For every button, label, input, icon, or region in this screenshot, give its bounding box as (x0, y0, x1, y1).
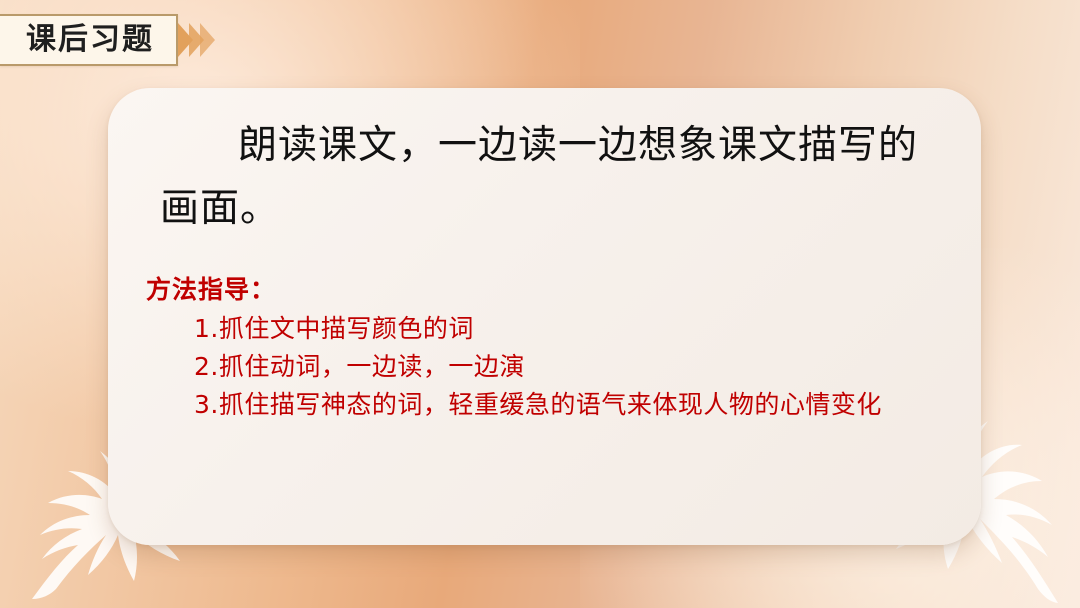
list-item: 1.抓住文中描写颜色的词 (146, 310, 965, 348)
chevron-right-icon (200, 23, 215, 57)
question-text: 朗读课文，一边读一边想象课文描写的画面。 (160, 114, 939, 240)
slide-root: 课后习题 朗读课文，一边读一边想象课文描写的画面。 方法指导： 1.抓住文中描写… (0, 0, 1080, 608)
page-title: 课后习题 (26, 25, 154, 55)
slide-title-box: 课后习题 (0, 14, 178, 66)
method-guide-label: 方法指导： (146, 270, 276, 306)
content-card-inner: 朗读课文，一边读一边想象课文描写的画面。 方法指导： 1.抓住文中描写颜色的词 … (108, 88, 981, 545)
list-item: 2.抓住动词，一边读，一边演 (146, 348, 965, 386)
content-card: 朗读课文，一边读一边想象课文描写的画面。 方法指导： 1.抓住文中描写颜色的词 … (108, 88, 981, 545)
list-item: 3.抓住描写神态的词，轻重缓急的语气来体现人物的心情变化 (146, 386, 965, 424)
method-guide-list: 1.抓住文中描写颜色的词 2.抓住动词，一边读，一边演 3.抓住描写神态的词，轻… (146, 310, 965, 424)
slide-title-banner: 课后习题 (0, 14, 215, 66)
chevron-group (182, 14, 215, 66)
